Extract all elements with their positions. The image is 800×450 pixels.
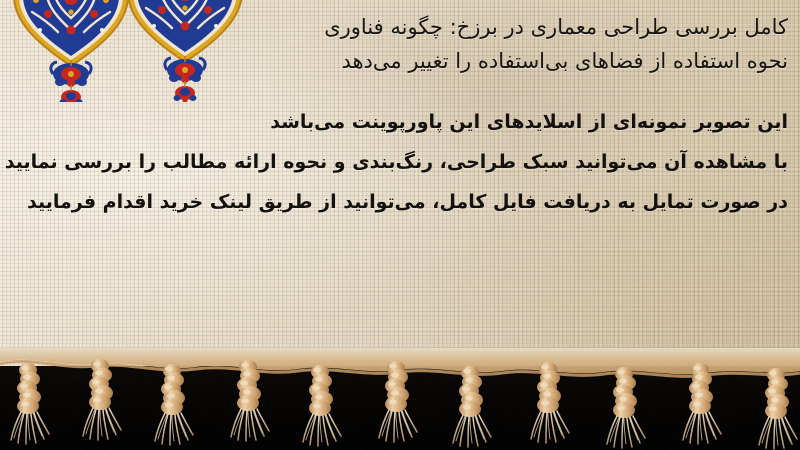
slide-canvas: کامل بررسی طراحی معماری در برزخ: چگونه ف… <box>0 0 800 450</box>
tassel-item <box>607 367 645 448</box>
tassel-item <box>83 359 121 440</box>
title-line-2: نحوه استفاده از فضاهای بی‌استفاده را تغی… <box>0 44 788 78</box>
slide-content: کامل بررسی طراحی معماری در برزخ: چگونه ف… <box>0 0 800 222</box>
body-line-2: با مشاهده آن می‌توانید سبک طراحی، رنگ‌بن… <box>0 142 788 182</box>
tassel-item <box>11 363 49 444</box>
tassel-item <box>155 364 193 445</box>
tassel-item <box>453 366 491 447</box>
tassel-item <box>303 365 341 446</box>
slide-body: این تصویر نمونه‌ای از اسلایدهای این پاور… <box>0 102 788 222</box>
body-line-1: این تصویر نمونه‌ای از اسلایدهای این پاور… <box>0 102 788 142</box>
fringe-region <box>0 338 800 450</box>
fringe-tassels <box>0 338 800 450</box>
slide-title: کامل بررسی طراحی معماری در برزخ: چگونه ف… <box>0 8 788 78</box>
body-line-3: در صورت تمایل به دریافت فایل کامل، می‌تو… <box>0 182 788 222</box>
tassel-item <box>759 368 797 449</box>
title-line-1: کامل بررسی طراحی معماری در برزخ: چگونه ف… <box>0 10 788 44</box>
